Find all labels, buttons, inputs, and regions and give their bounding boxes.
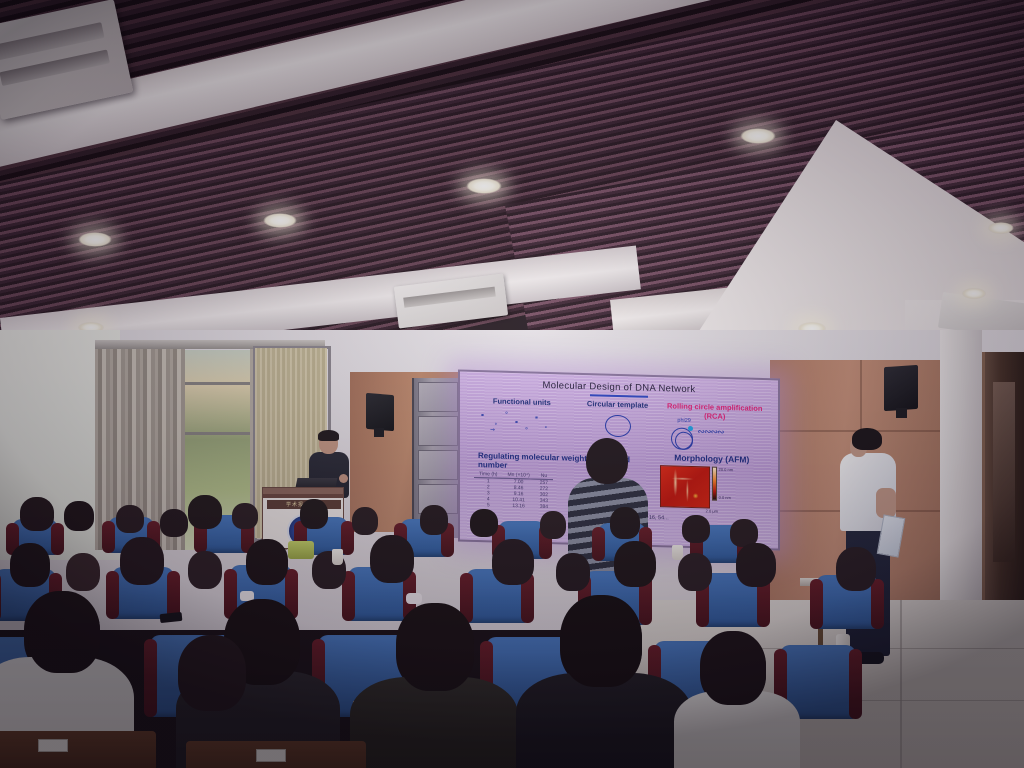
window-mullion: [183, 432, 255, 435]
audience-head: [178, 635, 246, 711]
rca-amplified-strand: ∾∾∾∾: [697, 426, 723, 438]
audience-head: [28, 593, 100, 673]
audience-head: [232, 503, 258, 529]
presenter-hand: [339, 474, 348, 483]
audience-head: [20, 497, 54, 531]
audience-head: [682, 515, 710, 543]
audience-head: [678, 553, 712, 591]
ceiling-downlight: [988, 222, 1014, 234]
audience-torso: [516, 673, 692, 768]
audience-head: [352, 507, 378, 535]
audience-head: [64, 501, 94, 531]
audience-head: [66, 553, 100, 591]
slide-title-underline: [590, 394, 648, 398]
slide-column-label-circular-template: Circular template: [574, 400, 661, 411]
paper-cup: [332, 549, 343, 565]
rca-diagram: phi29 ∾∾∾∾: [665, 420, 764, 457]
audience-head: [610, 507, 640, 539]
audience-head: [188, 495, 222, 529]
hair-clip: [406, 593, 422, 604]
audience-head: [470, 509, 498, 537]
phi29-enzyme-dot: [688, 426, 693, 431]
audience-head: [562, 597, 642, 687]
ceiling-downlight: [263, 213, 297, 228]
audience-head: [702, 633, 766, 705]
bench-front-left: [0, 731, 156, 768]
audience-head: [188, 551, 222, 589]
phone[interactable]: [160, 612, 183, 623]
ceiling-downlight: [466, 178, 502, 194]
audience-head: [492, 539, 534, 585]
audience-head: [10, 543, 50, 587]
phi29-label: phi29: [677, 418, 690, 424]
paper-cup: [672, 545, 683, 560]
audience-head: [160, 509, 188, 537]
presenter-hair: [318, 430, 339, 441]
audience-head: [300, 499, 328, 529]
lecture-hall-photo: Molecular Design of DNA Network Function…: [0, 0, 1024, 768]
green-bag: [288, 541, 314, 559]
audience-head: [420, 505, 448, 535]
audience-head: [398, 605, 474, 691]
wall-speaker-left: [366, 393, 394, 431]
ceiling-downlight: [740, 128, 776, 144]
wall-speaker-right-bracket: [896, 408, 907, 418]
bench-label: [38, 739, 68, 752]
ceiling-downlight: [78, 232, 112, 247]
audience-head: [370, 535, 414, 583]
audience-head: [736, 543, 776, 587]
audience-head: [116, 505, 144, 533]
afm-scale-max-label: 20.0 nm: [719, 467, 733, 473]
audience-seating: [0, 495, 1024, 768]
functional-units-diagram: ⚭ ∘ ⚬ ⚭ ⇝ ⚬ ⚭ ∘: [474, 406, 570, 439]
audience-head: [246, 539, 288, 585]
bench-label: [256, 749, 286, 762]
wall-speaker-left-bracket: [374, 428, 384, 437]
audience-head: [614, 541, 656, 587]
wall-speaker-right: [884, 365, 918, 411]
standing-attendee-hair: [852, 428, 882, 450]
audience-head: [120, 537, 164, 585]
person-at-screen-head: [586, 438, 628, 484]
window-mullion: [183, 382, 255, 385]
audience-head: [556, 553, 590, 591]
audience-head: [540, 511, 566, 539]
circular-template-diagram: [605, 414, 631, 437]
audience-head: [836, 547, 876, 591]
ceiling-downlight: [962, 288, 986, 299]
